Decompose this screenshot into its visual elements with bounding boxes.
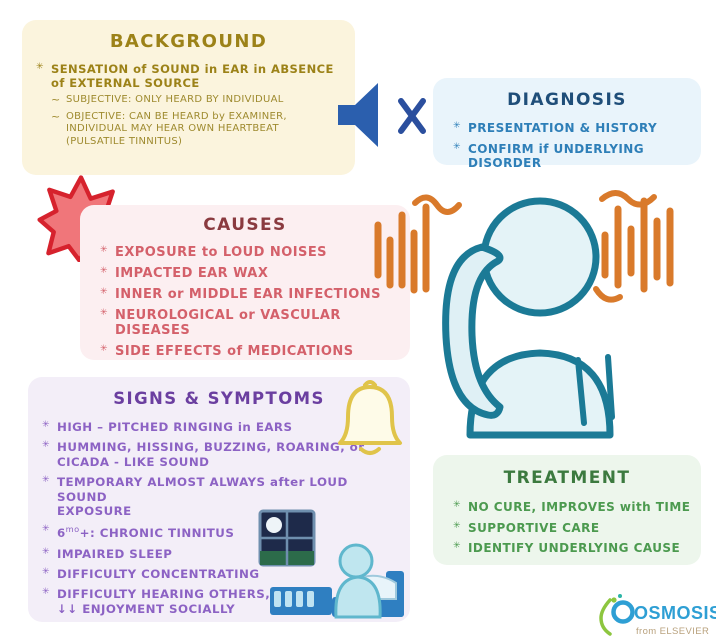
causes-item-infection: INNER or MIDDLE EAR INFECTIONS xyxy=(100,287,410,303)
causes-item-disease: NEUROLOGICAL or VASCULAR DISEASES xyxy=(100,308,410,340)
sound-wave-left-icon xyxy=(378,207,426,290)
background-panel: BACKGROUND SENSATION of SOUND in EAR in … xyxy=(22,20,355,175)
treatment-panel: TREATMENT NO CURE, IMPROVES with TIME SU… xyxy=(433,455,701,565)
symptom-sounds-line2: CICADA - LIKE SOUND xyxy=(57,455,209,469)
osmosis-logo: OSMOSIS from ELSEVIER xyxy=(596,592,716,640)
diagnosis-title: DIAGNOSIS xyxy=(433,90,701,110)
osmosis-tagline: from ELSEVIER xyxy=(636,626,709,637)
causes-list: EXPOSURE to LOUD NOISES IMPACTED EAR WAX… xyxy=(100,245,410,360)
background-sub-item-subjective: SUBJECTIVE: ONLY HEARD BY INDIVIDUAL xyxy=(51,94,336,106)
causes-panel: CAUSES EXPOSURE to LOUD NOISES IMPACTED … xyxy=(80,205,410,360)
osmosis-dot-1 xyxy=(611,597,616,602)
treatment-item-no-cure: NO CURE, IMPROVES with TIME xyxy=(453,500,701,515)
night-window-icon xyxy=(260,511,314,565)
symptom-temporary-line2: EXPOSURE xyxy=(57,504,132,518)
treatment-item-supportive: SUPPORTIVE CARE xyxy=(453,521,701,536)
treatment-list: NO CURE, IMPROVES with TIME SUPPORTIVE C… xyxy=(453,500,701,556)
background-bullet-list: SENSATION of SOUND in EAR in ABSENCE of … xyxy=(36,62,336,148)
background-sub-item-objective: OBJECTIVE: CAN BE HEARD by EXAMINER, IND… xyxy=(51,111,336,148)
background-bullet-main: SENSATION of SOUND in EAR in ABSENCE of … xyxy=(36,62,336,148)
bell-icon xyxy=(325,375,415,460)
osmosis-leaf-arc xyxy=(601,600,610,634)
symptom-sounds-line1: HUMMING, HISSING, BUZZING, ROARING, or xyxy=(57,440,365,454)
background-bullet-main-text: SENSATION of SOUND in EAR in ABSENCE of … xyxy=(51,62,334,90)
insomnia-bedroom-illustration xyxy=(252,505,412,625)
person-arm-crease-2 xyxy=(608,357,612,417)
causes-item-earwax: IMPACTED EAR WAX xyxy=(100,266,410,282)
sound-squiggle-left-icon xyxy=(415,197,459,212)
osmosis-o-glyph xyxy=(614,603,633,622)
sound-squiggle-right-bottom-icon xyxy=(596,289,620,300)
symptom-chronic-rest: +: CHRONIC TINNITUS xyxy=(80,526,235,540)
person-cupping-ear-illustration xyxy=(370,185,710,440)
osmosis-wordmark: OSMOSIS xyxy=(634,603,716,623)
background-sub-list: SUBJECTIVE: ONLY HEARD BY INDIVIDUAL OBJ… xyxy=(51,94,336,148)
background-sub-objective-line2: INDIVIDUAL MAY HEAR OWN HEARTBEAT xyxy=(66,123,279,134)
osmosis-dot-2 xyxy=(618,594,622,598)
causes-title: CAUSES xyxy=(80,215,410,235)
diagnosis-item-confirm: CONFIRM if UNDERLYING DISORDER xyxy=(453,142,701,171)
background-body: SENSATION of SOUND in EAR in ABSENCE of … xyxy=(36,62,336,148)
symptom-hearing-line2: ↓↓ ENJOYMENT SOCIALLY xyxy=(57,602,235,616)
sound-wave-right-icon xyxy=(592,201,670,289)
causes-item-medication: SIDE EFFECTS of MEDICATIONS xyxy=(100,344,410,360)
speaker-muted-icon xyxy=(333,75,443,155)
symptom-temporary-line1: TEMPORARY ALMOST ALWAYS after LOUD SOUND xyxy=(57,475,348,503)
treatment-title: TREATMENT xyxy=(433,468,701,488)
symptom-chronic-unit: mo xyxy=(66,524,80,534)
diagnosis-panel: DIAGNOSIS PRESENTATION & HISTORY CONFIRM… xyxy=(433,78,701,165)
causes-item-noise: EXPOSURE to LOUD NOISES xyxy=(100,245,410,261)
background-sub-objective-line3: (PULSATILE TINNITUS) xyxy=(66,136,182,147)
diagnosis-list: PRESENTATION & HISTORY CONFIRM if UNDERL… xyxy=(453,121,701,171)
symptom-hearing-line1: DIFFICULTY HEARING OTHERS, xyxy=(57,587,270,601)
treatment-item-identify: IDENTIFY UNDERLYING CAUSE xyxy=(453,541,701,556)
background-sub-objective-line1: OBJECTIVE: CAN BE HEARD by EXAMINER, xyxy=(66,111,287,122)
background-title: BACKGROUND xyxy=(22,31,355,52)
symptom-chronic-duration: 6 xyxy=(57,526,66,540)
diagnosis-item-presentation: PRESENTATION & HISTORY xyxy=(453,121,701,136)
